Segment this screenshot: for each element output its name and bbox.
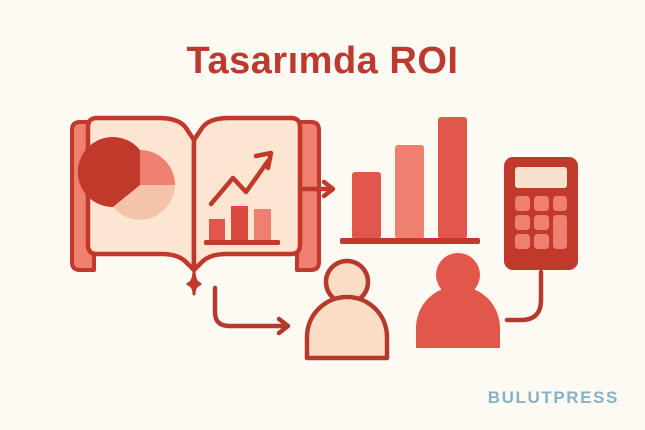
calculator-key-5 bbox=[534, 215, 549, 230]
bar-2 bbox=[395, 145, 424, 239]
calculator-key-4 bbox=[515, 215, 530, 230]
calculator bbox=[504, 157, 578, 270]
person-filled bbox=[416, 253, 500, 348]
bar-chart bbox=[340, 117, 480, 244]
bar-1 bbox=[352, 172, 381, 239]
bar-chart-baseline bbox=[340, 238, 480, 244]
brand-logo: BULUTPRESS bbox=[488, 388, 619, 408]
calculator-key-1 bbox=[515, 196, 530, 211]
curved-arrow-shaft bbox=[215, 288, 285, 326]
mini-bar-2 bbox=[231, 206, 248, 241]
arrow-book-to-people bbox=[215, 288, 288, 333]
calculator-key-3 bbox=[553, 196, 567, 211]
calculator-display bbox=[515, 167, 567, 188]
person-filled-body bbox=[416, 286, 500, 348]
connector-calculator-to-people bbox=[507, 272, 541, 320]
mini-bar-baseline bbox=[204, 240, 280, 245]
calculator-key-equals bbox=[553, 215, 567, 249]
person-outline-body bbox=[307, 297, 387, 358]
illustration-canvas: Tasarımda ROI bbox=[0, 0, 645, 430]
person-outline bbox=[307, 261, 387, 358]
calculator-key-7 bbox=[534, 234, 549, 249]
mini-bar-3 bbox=[254, 209, 271, 241]
mini-bar-1 bbox=[209, 219, 225, 241]
roi-infographic bbox=[0, 0, 645, 430]
calculator-key-6 bbox=[515, 234, 530, 249]
calculator-key-2 bbox=[534, 196, 549, 211]
bar-3 bbox=[438, 117, 467, 239]
